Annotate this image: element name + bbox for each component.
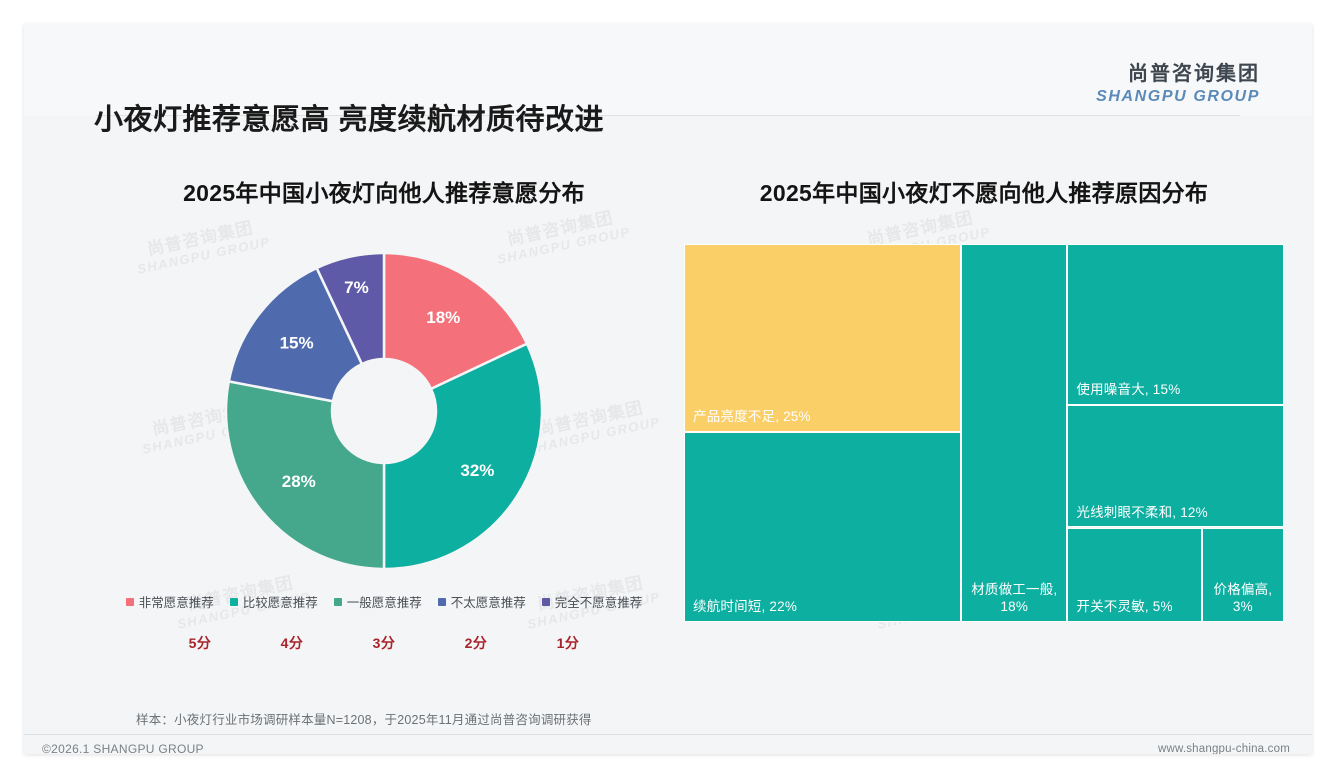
treemap-chart-title: 2025年中国小夜灯不愿向他人推荐原因分布 [684,174,1284,208]
donut-legend: 非常愿意推荐比较愿意推荐一般愿意推荐不太愿意推荐完全不愿意推荐 [84,592,684,611]
treemap-cell-label: 使用噪音大, 15% [1076,382,1277,399]
treemap-cell-label: 材质做工一般, 18% [966,582,1062,616]
treemap-cell[interactable]: 价格偏高, 3% [1202,528,1284,623]
donut-slice-label: 7% [344,278,369,297]
page-title: 小夜灯推荐意愿高 亮度续航材质待改进 [94,96,604,138]
legend-item[interactable]: 不太愿意推荐 [438,592,526,611]
logo-chinese-text: 尚普咨询集团 [1096,62,1260,87]
treemap-cell[interactable]: 光线刺眼不柔和, 12% [1067,405,1284,528]
slide-footer [24,735,1312,754]
score-label: 3分 [338,633,430,653]
donut-svg: 18%32%28%15%7% [219,246,549,576]
score-label: 4分 [246,633,338,653]
legend-label: 完全不愿意推荐 [555,592,643,611]
donut-chart-title: 2025年中国小夜灯向他人推荐意愿分布 [84,174,684,208]
logo-english-text: SHANGPU GROUP [1096,87,1260,106]
treemap-cell-label: 续航时间短, 22% [693,599,954,616]
score-label: 5分 [154,633,246,653]
footer-website: www.shangpu-china.com [1158,743,1290,754]
treemap-cell[interactable]: 续航时间短, 22% [684,432,961,622]
donut-slice[interactable] [384,344,542,569]
slide-canvas: 尚普咨询集团 SHANGPU GROUP 尚普咨询集团 SHANGPU GROU… [24,24,1312,754]
treemap-cell[interactable]: 材质做工一般, 18% [961,244,1067,622]
treemap-cell-label: 开关不灵敏, 5% [1076,599,1194,616]
score-row: 5分4分3分2分1分 [84,633,684,653]
legend-swatch-icon [230,598,238,606]
donut-chart-panel: 2025年中国小夜灯向他人推荐意愿分布 18%32%28%15%7% 非常愿意推… [84,174,684,694]
treemap-cell-label: 价格偏高, 3% [1207,582,1279,616]
legend-swatch-icon [542,598,550,606]
legend-swatch-icon [438,598,446,606]
sample-footnote: 样本：小夜灯行业市场调研样本量N=1208，于2025年11月通过尚普咨询调研获… [136,709,592,728]
treemap-cell[interactable]: 使用噪音大, 15% [1067,244,1284,405]
legend-label: 一般愿意推荐 [347,592,422,611]
treemap-cell-label: 光线刺眼不柔和, 12% [1076,505,1277,522]
footer-copyright: ©2026.1 SHANGPU GROUP [42,742,204,754]
treemap-cell[interactable]: 开关不灵敏, 5% [1067,528,1201,623]
legend-swatch-icon [334,598,342,606]
legend-label: 不太愿意推荐 [451,592,526,611]
legend-label: 比较愿意推荐 [243,592,318,611]
legend-item[interactable]: 非常愿意推荐 [126,592,214,611]
legend-item[interactable]: 完全不愿意推荐 [542,592,643,611]
score-label: 1分 [522,633,614,653]
treemap-chart-panel: 2025年中国小夜灯不愿向他人推荐原因分布 产品亮度不足, 25%续航时间短, … [684,174,1284,694]
donut-chart: 18%32%28%15%7% [219,246,549,576]
donut-slice-label: 18% [426,308,460,327]
donut-slice-label: 15% [280,334,314,353]
brand-logo: 尚普咨询集团 SHANGPU GROUP [1096,62,1260,106]
treemap-cell-label: 产品亮度不足, 25% [693,409,954,426]
legend-swatch-icon [126,598,134,606]
treemap-chart: 产品亮度不足, 25%续航时间短, 22%材质做工一般, 18%使用噪音大, 1… [684,244,1284,622]
donut-slice-label: 32% [460,461,494,480]
treemap-cell[interactable]: 产品亮度不足, 25% [684,244,961,432]
legend-item[interactable]: 比较愿意推荐 [230,592,318,611]
legend-item[interactable]: 一般愿意推荐 [334,592,422,611]
legend-label: 非常愿意推荐 [139,592,214,611]
score-label: 2分 [430,633,522,653]
donut-slice-label: 28% [282,472,316,491]
